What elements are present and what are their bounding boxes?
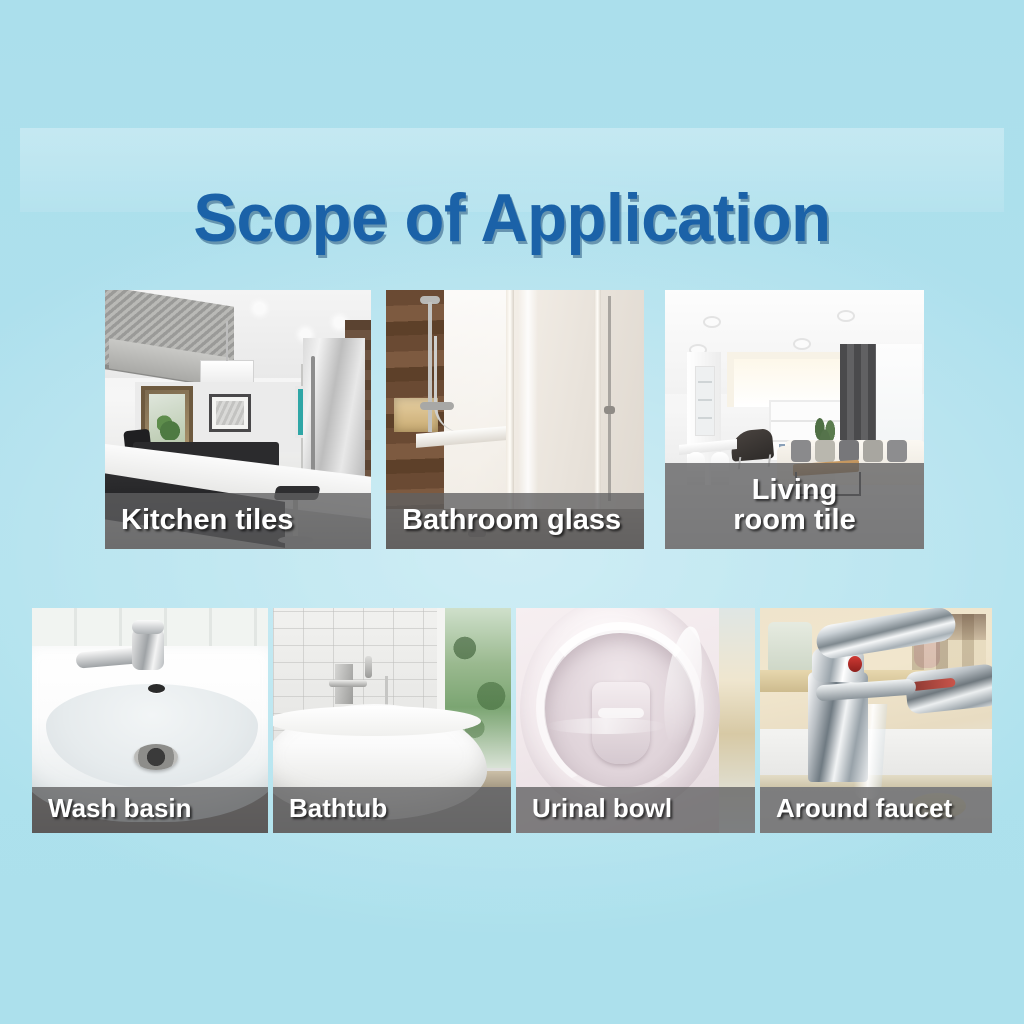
card-caption: Bathtub: [273, 787, 511, 833]
page-title: Scope of Application: [20, 172, 1003, 264]
card-caption: Living room tile: [665, 463, 924, 549]
card-kitchen-tiles[interactable]: Kitchen tiles: [105, 290, 371, 549]
card-caption: Wash basin: [32, 787, 268, 833]
card-caption: Urinal bowl: [516, 787, 755, 833]
card-around-faucet[interactable]: Around faucet: [760, 608, 992, 833]
card-living-room-tile[interactable]: Living room tile: [665, 290, 924, 549]
card-bathroom-glass[interactable]: Bathroom glass: [386, 290, 644, 549]
card-urinal-bowl[interactable]: Urinal bowl: [516, 608, 755, 833]
card-caption-line-1: Living: [752, 475, 837, 505]
card-wash-basin[interactable]: Wash basin: [32, 608, 268, 833]
card-caption-line-2: room tile: [733, 505, 855, 535]
card-caption: Bathroom glass: [386, 493, 644, 549]
card-caption: Kitchen tiles: [105, 493, 371, 549]
card-caption: Around faucet: [760, 787, 992, 833]
card-bathtub[interactable]: Bathtub: [273, 608, 511, 833]
poster-canvas: Scope of Application Kitchen til: [0, 0, 1024, 1024]
